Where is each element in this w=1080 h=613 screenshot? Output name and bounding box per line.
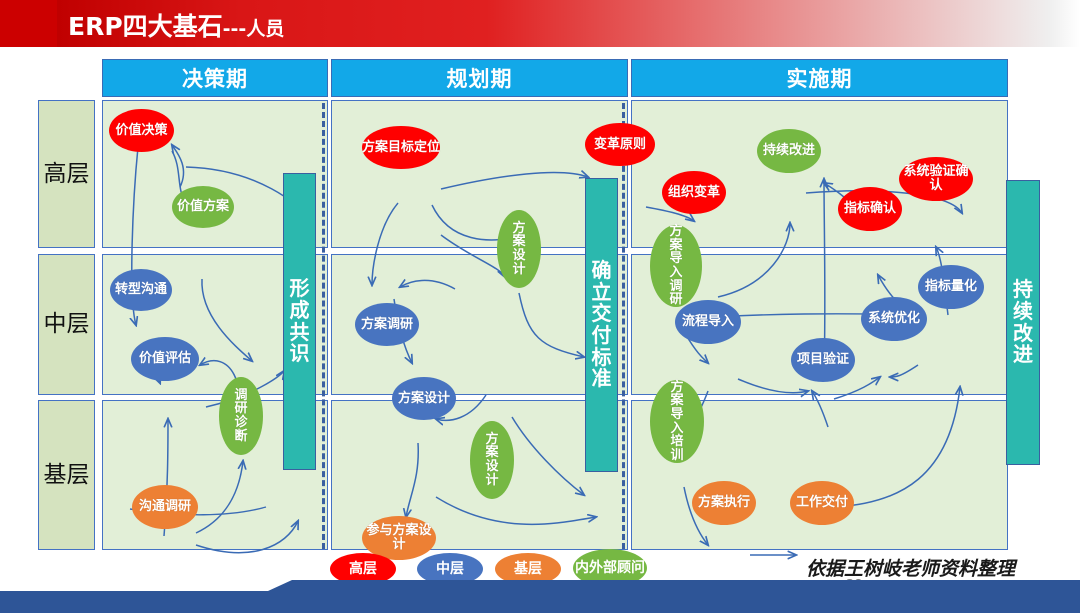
gate-bar-continuous-improvement: 持续改进: [1006, 180, 1040, 465]
node-indicator-quantification-label: 指标量化: [925, 280, 977, 294]
node-plan-import-training[interactable]: 方案导入培训: [650, 380, 704, 463]
phase-divider-2: [622, 103, 625, 549]
node-plan-research-label: 方案调研: [361, 318, 413, 332]
band-label-middle-text: 中层: [44, 312, 90, 336]
node-plan-import-training-label: 方案导入培训: [669, 381, 685, 463]
node-communication-research[interactable]: 沟通调研: [132, 485, 198, 529]
node-plan-design-middle-label: 方案设计: [398, 392, 450, 406]
node-project-verification[interactable]: 项目验证: [791, 338, 855, 382]
node-transformation-communication[interactable]: 转型沟通: [110, 269, 172, 311]
node-plan-goal-positioning-label: 方案目标定位: [362, 141, 440, 155]
gate-bar-delivery-standard-text: 确立交付标准: [590, 260, 614, 390]
node-system-optimization[interactable]: 系统优化: [861, 297, 927, 341]
band-label-base-text: 基层: [44, 463, 90, 487]
node-process-import[interactable]: 流程导入: [675, 300, 741, 344]
node-process-import-label: 流程导入: [682, 315, 734, 329]
node-value-decision[interactable]: 价值决策: [109, 109, 174, 152]
node-communication-research-label: 沟通调研: [139, 500, 191, 514]
node-change-principle-label: 变革原则: [594, 138, 646, 152]
node-plan-import-research-label: 方案导入调研: [668, 225, 684, 307]
node-plan-import-research[interactable]: 方案导入调研: [650, 225, 702, 307]
slide-title-bar: ERP四大基石---人员: [0, 0, 1080, 47]
node-change-principle[interactable]: 变革原则: [585, 123, 655, 166]
node-transformation-communication-label: 转型沟通: [115, 283, 167, 297]
node-plan-design-consultant-label: 方案设计: [484, 433, 500, 488]
phase-divider-1: [322, 103, 325, 549]
phase-header-planning-text: 规划期: [447, 63, 513, 93]
node-work-delivery[interactable]: 工作交付: [790, 481, 854, 525]
legend-item-middle-label: 中层: [436, 562, 464, 577]
node-system-verification[interactable]: 系统验证确认: [899, 157, 973, 201]
gate-bar-consensus: 形成共识: [283, 173, 316, 470]
node-indicator-confirmation[interactable]: 指标确认: [838, 187, 902, 231]
node-plan-goal-positioning[interactable]: 方案目标定位: [362, 126, 440, 169]
band-label-base: 基层: [38, 400, 95, 550]
node-system-optimization-label: 系统优化: [868, 312, 920, 326]
node-research-diagnosis-label: 调研诊断: [233, 389, 249, 444]
node-plan-design-middle[interactable]: 方案设计: [392, 377, 456, 420]
page-title-sub: ---人员: [223, 18, 285, 40]
phase-header-implementation: 实施期: [631, 59, 1008, 97]
phase-header-implementation-text: 实施期: [787, 63, 853, 93]
node-plan-design-senior[interactable]: 方案设计: [497, 210, 541, 288]
cell-planning-senior: [331, 100, 628, 248]
legend-item-senior-label: 高层: [349, 562, 377, 577]
node-indicator-quantification[interactable]: 指标量化: [918, 265, 984, 309]
node-value-decision-label: 价值决策: [115, 124, 167, 138]
node-continuous-improvement[interactable]: 持续改进: [757, 129, 821, 173]
page-title-main: ERP四大基石: [68, 12, 223, 41]
page-title: ERP四大基石---人员: [68, 7, 284, 43]
node-plan-execution-label: 方案执行: [698, 496, 750, 510]
node-research-diagnosis[interactable]: 调研诊断: [219, 377, 263, 455]
ribbon-notch: [268, 580, 292, 591]
node-value-plan[interactable]: 价值方案: [172, 186, 234, 228]
legend-item-consultant-label: 内外部顾问: [575, 561, 645, 576]
node-plan-design-consultant[interactable]: 方案设计: [470, 421, 514, 499]
credit-note: 依据王树岐老师资料整理: [806, 554, 1015, 581]
legend-item-base-label: 基层: [514, 562, 542, 577]
gate-bar-consensus-text: 形成共识: [288, 278, 312, 364]
band-label-middle: 中层: [38, 254, 95, 395]
node-value-assessment[interactable]: 价值评估: [131, 337, 199, 381]
phase-header-decision-text: 决策期: [182, 63, 248, 93]
node-indicator-confirmation-label: 指标确认: [844, 202, 896, 216]
node-project-verification-label: 项目验证: [797, 353, 849, 367]
node-system-verification-label: 系统验证确认: [899, 165, 973, 192]
title-bar-left-block: [0, 0, 57, 47]
diagram-canvas: 高层 中层 基层 决策期 规划期 实施期: [0, 47, 1080, 592]
ribbon-slab: [292, 580, 1080, 591]
node-value-assessment-label: 价值评估: [139, 352, 191, 366]
node-plan-execution[interactable]: 方案执行: [692, 481, 756, 525]
gate-bar-delivery-standard: 确立交付标准: [585, 178, 618, 472]
node-plan-research[interactable]: 方案调研: [355, 303, 419, 346]
node-organizational-change-label: 组织变革: [668, 186, 720, 200]
bottom-ribbon: [0, 591, 1080, 613]
node-work-delivery-label: 工作交付: [796, 496, 848, 510]
node-continuous-improvement-label: 持续改进: [763, 144, 815, 158]
gate-bar-continuous-improvement-text: 持续改进: [1011, 279, 1035, 365]
phase-header-decision: 决策期: [102, 59, 328, 97]
band-label-senior: 高层: [38, 100, 95, 248]
node-organizational-change[interactable]: 组织变革: [662, 171, 726, 214]
band-label-senior-text: 高层: [44, 162, 90, 186]
node-plan-design-senior-label: 方案设计: [511, 222, 527, 277]
node-value-plan-label: 价值方案: [177, 200, 229, 214]
phase-header-planning: 规划期: [331, 59, 628, 97]
